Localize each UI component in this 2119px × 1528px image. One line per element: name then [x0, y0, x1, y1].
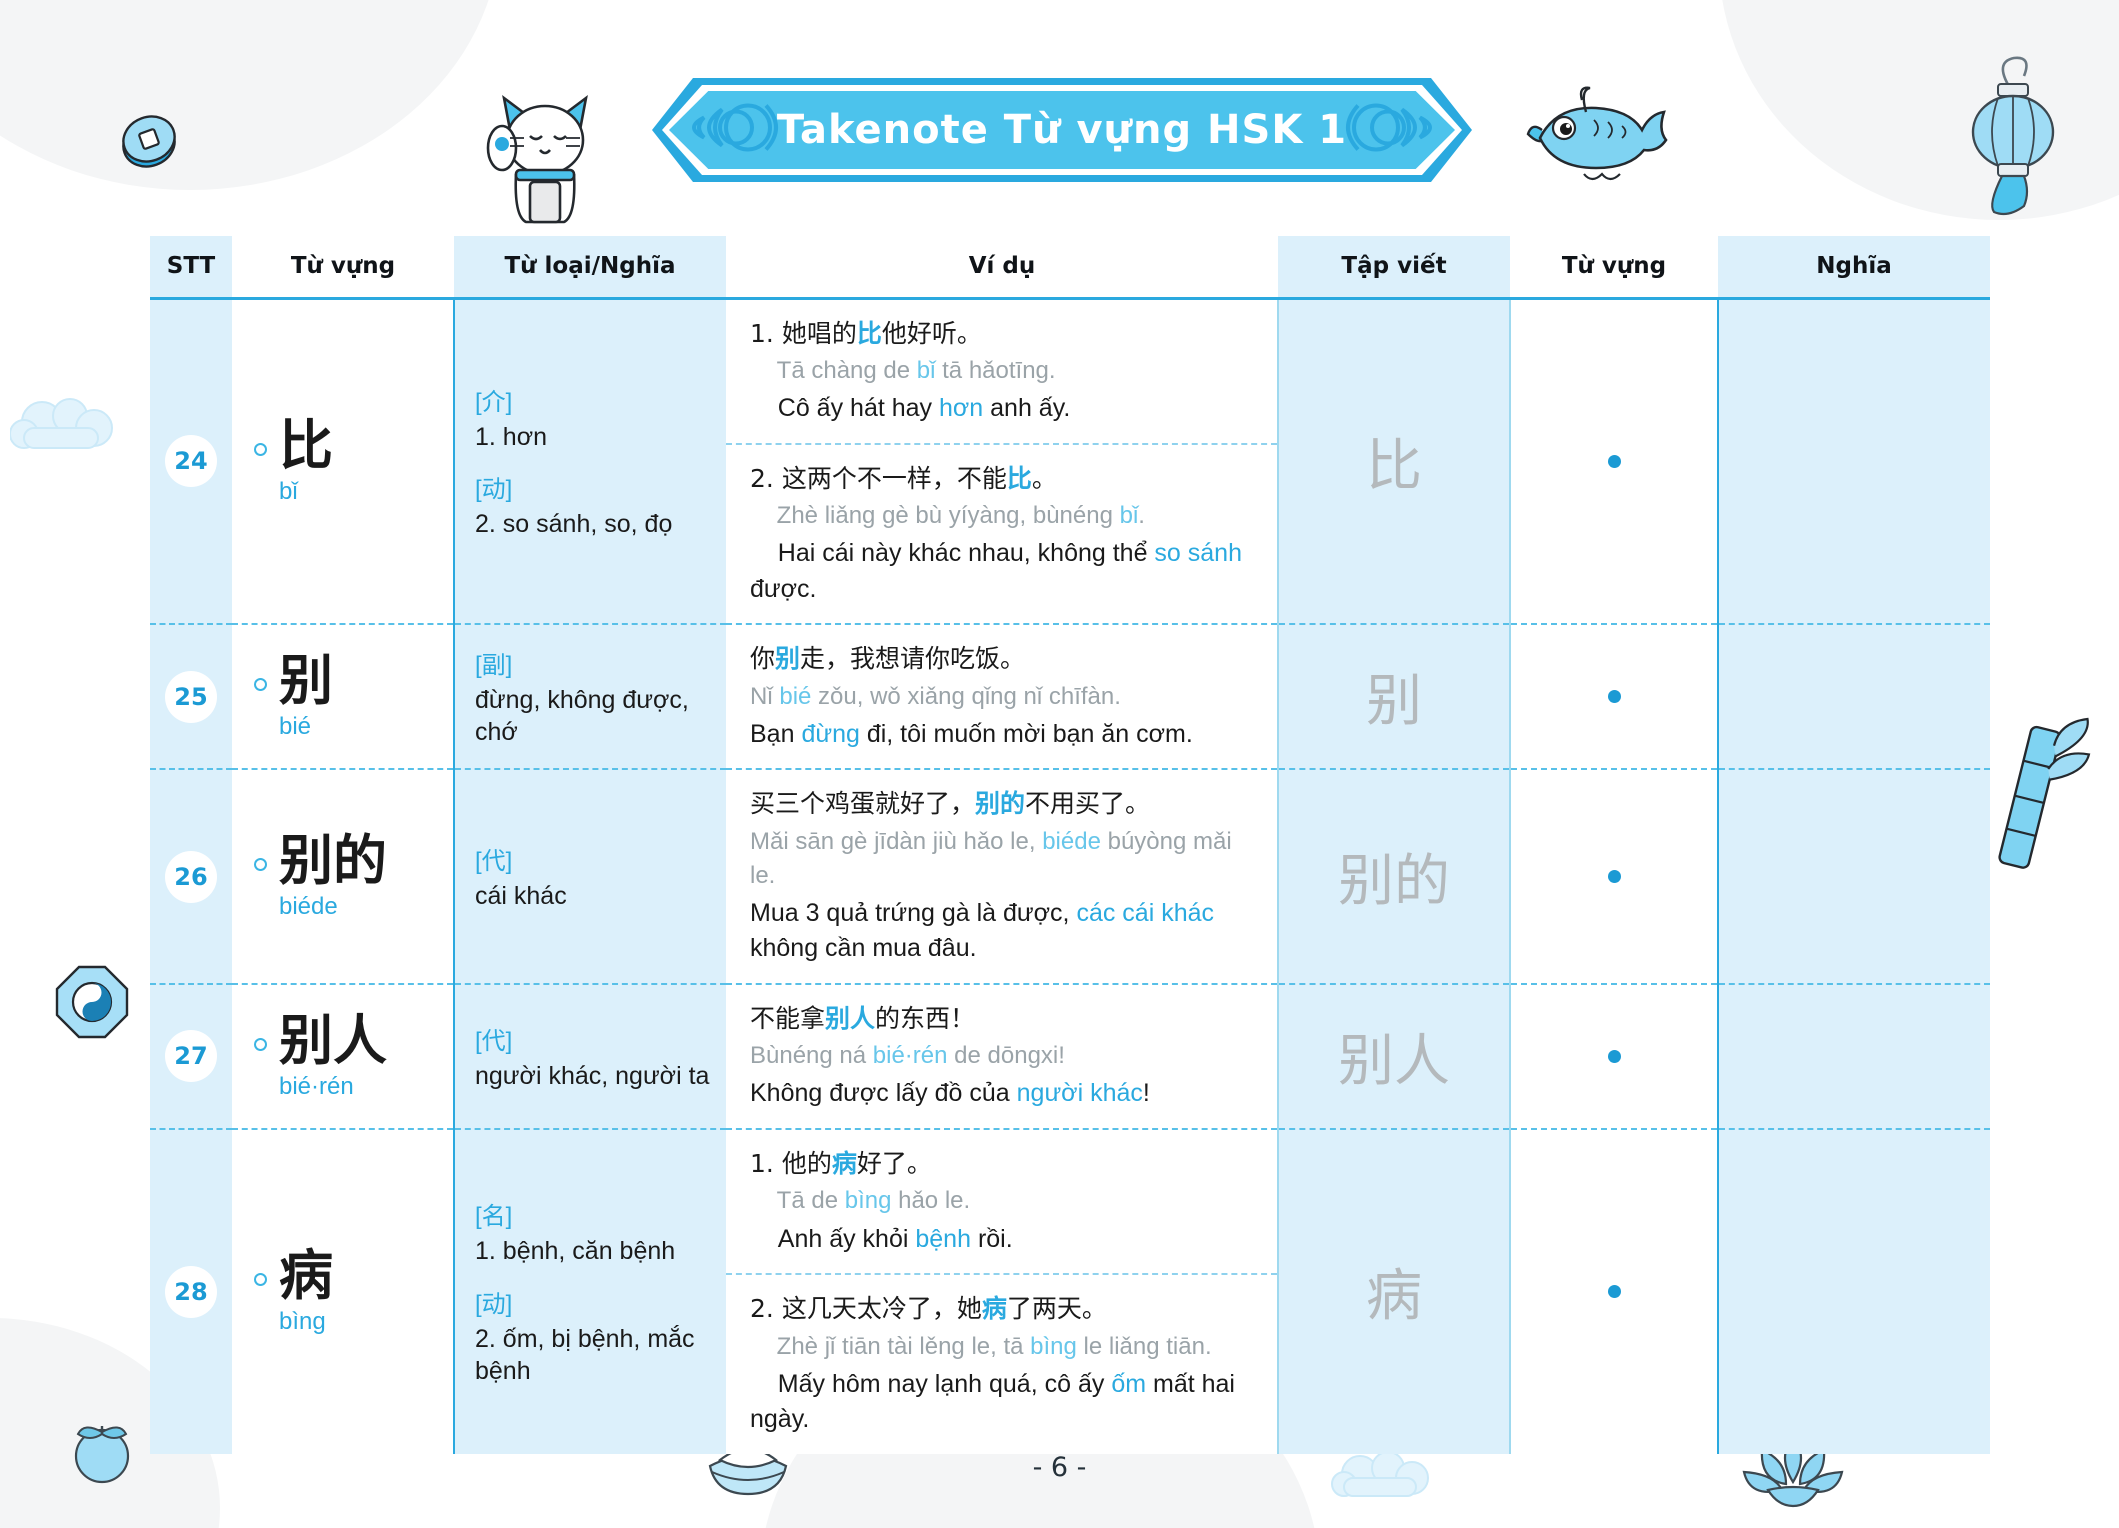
example-pinyin: Tā de bìng hǎo le. — [750, 1184, 1253, 1218]
part-of-speech: [动] — [475, 469, 710, 504]
cell-examples: 1. 她唱的比他好听。 Tā chàng de bǐ tā hǎotīng. C… — [726, 298, 1278, 624]
table-row: 24比bǐ[介]1. hơn[动]2. so sánh, so, đọ1. 她唱… — [150, 298, 1990, 624]
meaning-text: 2. so sánh, so, đọ — [475, 508, 710, 541]
vocabulary-hanzi: 别 — [279, 649, 333, 712]
bamboo-icon — [1972, 706, 2092, 901]
table-row: 27别人bié·rén[代]người khác, người ta不能拿别人的… — [150, 984, 1990, 1129]
meaning-text: người khác, người ta — [475, 1060, 710, 1093]
checkbox-circle-icon[interactable] — [254, 1038, 267, 1051]
meaning-text: cái khác — [475, 880, 710, 913]
banner-ornament-left-icon — [670, 80, 800, 181]
background-blob — [0, 0, 500, 190]
column-header-meaning: Nghĩa — [1718, 236, 1990, 298]
meaning-text: 1. hơn — [475, 421, 710, 454]
example-pinyin: Mǎi sān gè jīdàn jiù hǎo le, biéde búyòn… — [750, 825, 1253, 893]
cell-stt: 24 — [150, 298, 232, 624]
maneki-neko-icon — [480, 78, 610, 233]
cell-vocabulary-blank[interactable] — [1510, 984, 1718, 1129]
table-row: 28病bìng[名]1. bệnh, căn bệnh[动]2. ốm, bị … — [150, 1129, 1990, 1454]
example-vietnamese: Cô ấy hát hay hơn anh ấy. — [750, 391, 1253, 427]
table-header-row: STT Từ vựng Từ loại/Nghĩa Ví dụ Tập viết… — [150, 236, 1990, 298]
cell-examples: 你别走，我想请你吃饭。Nǐ bié zǒu, wǒ xiǎng qǐng nǐ … — [726, 624, 1278, 769]
cell-examples: 买三个鸡蛋就好了，别的不用买了。Mǎi sān gè jīdàn jiù hǎo… — [726, 769, 1278, 984]
example-block: 1. 她唱的比他好听。 Tā chàng de bǐ tā hǎotīng. C… — [726, 300, 1277, 443]
page-title: Takenote Từ vựng HSK 1 — [777, 107, 1347, 153]
column-header-writing: Tập viết — [1278, 236, 1510, 298]
cell-examples: 1. 他的病好了。 Tā de bìng hǎo le. Anh ấy khỏi… — [726, 1129, 1278, 1454]
cell-type-meaning: [代]cái khác — [454, 769, 726, 984]
part-of-speech: [动] — [475, 1284, 710, 1319]
part-of-speech: [代] — [475, 1021, 710, 1056]
example-pinyin: Tā chàng de bǐ tā hǎotīng. — [750, 354, 1253, 388]
stt-badge: 25 — [165, 671, 217, 723]
example-chinese: 2. 这两个不一样，不能比。 — [750, 461, 1253, 497]
example-chinese: 1. 他的病好了。 — [750, 1146, 1253, 1182]
example-chinese: 你别走，我想请你吃饭。 — [750, 641, 1253, 677]
example-block: 2. 这两个不一样，不能比。 Zhè liǎng gè bù yíyàng, b… — [726, 443, 1277, 624]
example-chinese: 1. 她唱的比他好听。 — [750, 316, 1253, 352]
page-root: Takenote Từ vựng HSK 1 — [0, 0, 2119, 1528]
column-header-example: Ví dụ — [726, 236, 1278, 298]
vocabulary-pinyin: bié — [279, 713, 333, 741]
vocabulary-hanzi: 别的 — [279, 829, 387, 892]
vocabulary-pinyin: bǐ — [279, 478, 333, 506]
fish-icon — [1524, 82, 1674, 197]
vocabulary-pinyin: bié·rén — [279, 1073, 387, 1101]
cell-writing-practice[interactable]: 别 — [1278, 624, 1510, 769]
cell-writing-practice[interactable]: 病 — [1278, 1129, 1510, 1454]
part-of-speech: [名] — [475, 1196, 710, 1231]
practice-character: 病 — [1279, 1251, 1509, 1332]
part-of-speech: [副] — [475, 645, 710, 680]
example-vietnamese: Mua 3 quả trứng gà là được, các cái khác… — [750, 896, 1253, 967]
example-pinyin: Nǐ bié zǒu, wǒ xiǎng qǐng nǐ chīfàn. — [750, 680, 1253, 714]
cell-vocabulary-blank[interactable] — [1510, 1129, 1718, 1454]
stt-badge: 26 — [165, 851, 217, 903]
checkbox-circle-icon[interactable] — [254, 1273, 267, 1286]
example-block: 买三个鸡蛋就好了，别的不用买了。Mǎi sān gè jīdàn jiù hǎo… — [726, 770, 1277, 983]
cell-meaning-blank[interactable] — [1718, 1129, 1990, 1454]
checkbox-circle-icon[interactable] — [254, 443, 267, 456]
cell-type-meaning: [名]1. bệnh, căn bệnh[动]2. ốm, bị bệnh, m… — [454, 1129, 726, 1454]
cell-type-meaning: [副]đừng, không được, chớ — [454, 624, 726, 769]
practice-character: 比 — [1279, 421, 1509, 502]
cell-vocabulary-blank[interactable] — [1510, 624, 1718, 769]
example-vietnamese: Anh ấy khỏi bệnh rồi. — [750, 1222, 1253, 1258]
cell-vocabulary: 病bìng — [232, 1129, 454, 1454]
meaning-text: đừng, không được, chớ — [475, 684, 710, 749]
cell-examples: 不能拿别人的东西！Bùnéng ná bié·rén de dōngxi!Khô… — [726, 984, 1278, 1129]
stt-badge: 24 — [165, 435, 217, 487]
cell-writing-practice[interactable]: 别的 — [1278, 769, 1510, 984]
example-block: 1. 他的病好了。 Tā de bìng hǎo le. Anh ấy khỏi… — [726, 1130, 1277, 1273]
cell-vocabulary-blank[interactable] — [1510, 298, 1718, 624]
table-row: 26别的biéde[代]cái khác买三个鸡蛋就好了，别的不用买了。Mǎi … — [150, 769, 1990, 984]
cell-type-meaning: [介]1. hơn[动]2. so sánh, so, đọ — [454, 298, 726, 624]
cell-vocabulary-blank[interactable] — [1510, 769, 1718, 984]
vocabulary-hanzi: 病 — [279, 1244, 333, 1307]
bullet-dot-icon — [1608, 1050, 1621, 1063]
vocabulary-pinyin: bìng — [279, 1308, 333, 1336]
bullet-dot-icon — [1608, 455, 1621, 468]
column-header-vocabulary-2: Từ vựng — [1510, 236, 1718, 298]
cell-vocabulary: 别bié — [232, 624, 454, 769]
bullet-dot-icon — [1608, 690, 1621, 703]
part-of-speech: [代] — [475, 841, 710, 876]
cell-meaning-blank[interactable] — [1718, 624, 1990, 769]
cell-vocabulary: 别人bié·rén — [232, 984, 454, 1129]
example-chinese: 买三个鸡蛋就好了，别的不用买了。 — [750, 786, 1253, 822]
stt-badge: 28 — [165, 1266, 217, 1318]
table-row: 25别bié[副]đừng, không được, chớ你别走，我想请你吃饭… — [150, 624, 1990, 769]
page-number: - 6 - — [0, 1452, 2119, 1483]
meaning-text: 2. ốm, bị bệnh, mắc bệnh — [475, 1323, 710, 1388]
example-block: 不能拿别人的东西！Bùnéng ná bié·rén de dōngxi!Khô… — [726, 985, 1277, 1128]
vocabulary-hanzi: 别人 — [279, 1009, 387, 1072]
vocabulary-hanzi: 比 — [279, 414, 333, 477]
table-body: 24比bǐ[介]1. hơn[动]2. so sánh, so, đọ1. 她唱… — [150, 298, 1990, 1454]
example-vietnamese: Mấy hôm nay lạnh quá, cô ấy ốm mất hai n… — [750, 1367, 1253, 1438]
example-pinyin: Zhè jǐ tiān tài lěng le, tā bìng le liǎn… — [750, 1330, 1253, 1364]
cell-vocabulary: 比bǐ — [232, 298, 454, 624]
cell-writing-practice[interactable]: 别人 — [1278, 984, 1510, 1129]
bullet-dot-icon — [1608, 1285, 1621, 1298]
cell-type-meaning: [代]người khác, người ta — [454, 984, 726, 1129]
vocabulary-pinyin: biéde — [279, 893, 387, 921]
practice-character: 别人 — [1279, 1016, 1509, 1097]
page-banner: Takenote Từ vựng HSK 1 — [652, 78, 1472, 182]
table-header: STT Từ vựng Từ loại/Nghĩa Ví dụ Tập viết… — [150, 236, 1990, 298]
example-block: 2. 这几天太冷了，她病了两天。 Zhè jǐ tiān tài lěng le… — [726, 1273, 1277, 1454]
example-pinyin: Bùnéng ná bié·rén de dōngxi! — [750, 1039, 1253, 1073]
cell-stt: 27 — [150, 984, 232, 1129]
example-vietnamese: Hai cái này khác nhau, không thể so sánh… — [750, 536, 1253, 607]
lantern-icon — [1958, 48, 2068, 243]
example-chinese: 不能拿别人的东西！ — [750, 1001, 1253, 1037]
example-pinyin: Zhè liǎng gè bù yíyàng, bùnéng bǐ. — [750, 499, 1253, 533]
banner-ornament-right-icon — [1324, 80, 1454, 181]
cloud-icon — [10, 390, 120, 463]
column-header-type-meaning: Từ loại/Nghĩa — [454, 236, 726, 298]
part-of-speech: [介] — [475, 382, 710, 417]
cell-writing-practice[interactable]: 比 — [1278, 298, 1510, 624]
vocabulary-table: STT Từ vựng Từ loại/Nghĩa Ví dụ Tập viết… — [150, 236, 1990, 1454]
cell-meaning-blank[interactable] — [1718, 298, 1990, 624]
checkbox-circle-icon[interactable] — [254, 858, 267, 871]
cell-stt: 26 — [150, 769, 232, 984]
cell-stt: 28 — [150, 1129, 232, 1454]
cell-stt: 25 — [150, 624, 232, 769]
practice-character: 别 — [1279, 656, 1509, 737]
bagua-icon — [52, 962, 132, 1047]
cell-meaning-blank[interactable] — [1718, 984, 1990, 1129]
coin-icon — [118, 110, 180, 177]
cell-vocabulary: 别的biéde — [232, 769, 454, 984]
example-vietnamese: Không được lấy đồ của người khác! — [750, 1076, 1253, 1112]
practice-character: 别的 — [1279, 836, 1509, 917]
stt-badge: 27 — [165, 1030, 217, 1082]
meaning-text: 1. bệnh, căn bệnh — [475, 1235, 710, 1268]
cell-meaning-blank[interactable] — [1718, 769, 1990, 984]
column-header-stt: STT — [150, 236, 232, 298]
column-header-vocabulary: Từ vựng — [232, 236, 454, 298]
bullet-dot-icon — [1608, 870, 1621, 883]
checkbox-circle-icon[interactable] — [254, 678, 267, 691]
example-block: 你别走，我想请你吃饭。Nǐ bié zǒu, wǒ xiǎng qǐng nǐ … — [726, 625, 1277, 768]
example-vietnamese: Bạn đừng đi, tôi muốn mời bạn ăn cơm. — [750, 717, 1253, 753]
example-chinese: 2. 这几天太冷了，她病了两天。 — [750, 1291, 1253, 1327]
